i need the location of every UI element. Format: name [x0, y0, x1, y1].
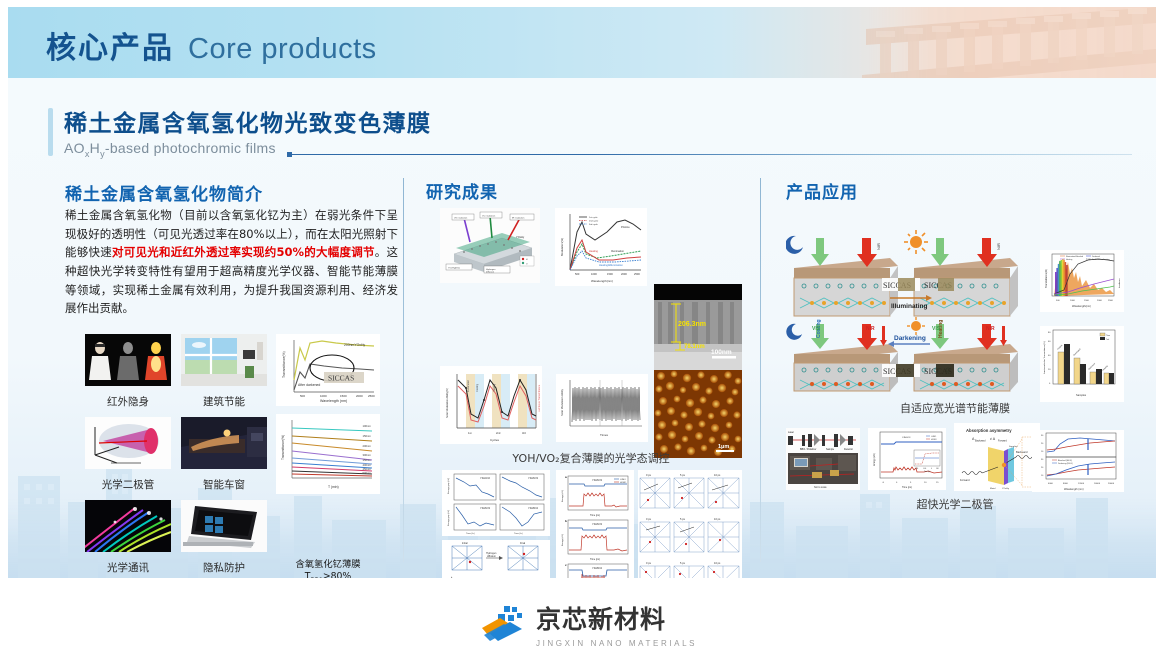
section-accent-bar [48, 108, 53, 156]
svg-text:Vis irradiation: Vis irradiation [482, 214, 496, 217]
svg-text:Time (fs): Time (fs) [924, 471, 931, 473]
divider-middle-right [760, 178, 761, 562]
svg-text:YOxHy: YOxHy [516, 235, 525, 239]
svg-text:0: 0 [931, 468, 932, 470]
thumb-cell-5[interactable]: 隐私防护 [181, 500, 267, 575]
svg-text:500nm: 500nm [362, 471, 371, 475]
svg-text:100: 100 [936, 468, 939, 470]
svg-text:Absorption asymmetry: Absorption asymmetry [966, 428, 1012, 433]
classical-columns-watermark [856, 7, 1156, 78]
modulation-spectrum-chart: PristineIlluminationHeatingHeating&Illum… [555, 208, 647, 286]
slide-body: 稀土金属含氧氢化物光致变色薄膜 AOxHy-based photochromic… [8, 78, 1156, 578]
svg-text:Solar Modulation Ability(%): Solar Modulation Ability(%) [446, 388, 449, 418]
svg-text:Heating: Heating [589, 249, 598, 253]
svg-text:Wavelength (nm): Wavelength (nm) [1064, 487, 1084, 491]
svg-text:Time (fs): Time (fs) [466, 533, 475, 535]
svg-text:HOMO: HOMO [620, 482, 627, 484]
svg-text:5 ps: 5 ps [680, 561, 686, 565]
svg-text:Wavelength (nm): Wavelength (nm) [320, 399, 347, 403]
svg-text:Hydrogen: Hydrogen [486, 268, 496, 271]
logo-text-cn: 京芯新材料 [536, 600, 697, 636]
svg-text:Initial: Initial [462, 542, 468, 545]
spec-line-1: 含氧氢化钇薄膜 [276, 559, 380, 571]
svg-text:3rd cycle: 3rd cycle [589, 223, 599, 226]
svg-text:3rd: 3rd [522, 431, 526, 435]
svg-text:-200: -200 [915, 468, 918, 470]
svg-text:Energy (eV): Energy (eV) [873, 453, 876, 466]
pump-probe-setup-photo: LaserBBO / PolarizerSampleDetector Not t… [786, 428, 860, 490]
hydrogen-diffusion-schematic: HydrogendiffusionInitialFinal 1.24 eV0.2… [442, 540, 550, 578]
thumb-cell-3[interactable]: 智能车窗 [181, 417, 267, 492]
header-title-en: Core products [188, 33, 377, 66]
afm-surface-image: 1μm [654, 370, 742, 458]
svg-text:1500: 1500 [340, 394, 347, 398]
svg-text:Darkened: Darkened [1092, 256, 1100, 258]
svg-text:2nd: 2nd [496, 431, 501, 435]
jingxin-logo-icon [478, 604, 526, 644]
svg-text:Forward: Forward [960, 478, 970, 482]
svg-text:diffusion: diffusion [486, 272, 495, 274]
svg-text:Sample: Sample [826, 448, 835, 451]
svg-text:150nm: 150nm [362, 434, 371, 438]
svg-text:2000: 2000 [356, 394, 363, 398]
energy-gap-md-panels: Y4H4O2Y4H6O3Y4H6O3Y4H8O4 Time (fs)Time (… [442, 470, 550, 536]
svg-text:Energy (eV): Energy (eV) [561, 534, 564, 546]
transmittance-spectrum-chart: SICCAS After darkened 200nmYOxHy Wavelen… [276, 334, 380, 406]
svg-text:Detector: Detector [844, 448, 853, 451]
svg-text:Energy gap (eV): Energy gap (eV) [447, 510, 450, 526]
svg-text:BBO / Polarizer: BBO / Polarizer [800, 448, 817, 451]
thumb-label-0: 红外隐身 [85, 394, 171, 409]
svg-text:1000: 1000 [591, 272, 597, 276]
svg-text:Y4H4O2: Y4H4O2 [480, 476, 491, 480]
thumb-label-5: 隐私防护 [181, 560, 267, 575]
application-thumb-grid: 红外隐身 建筑节能 [85, 334, 267, 575]
svg-text:Metal: Metal [990, 487, 996, 490]
svg-text:78.1nm: 78.1nm [684, 344, 705, 350]
svg-text:500: 500 [300, 394, 305, 398]
svg-text:NIR: NIR [866, 326, 875, 332]
section-title-en-tail: -based photochromic films [105, 140, 276, 156]
svg-text:UV irradiation: UV irradiation [454, 216, 468, 219]
adaptive-film-mechanism-schematic: NIR NIR SIC [786, 226, 1036, 396]
svg-text:5 ps: 5 ps [680, 517, 686, 521]
thermal-imaging-photo [85, 334, 171, 386]
svg-text:IR irradiation: IR irradiation [512, 216, 525, 219]
svg-text:Heating: Heating [493, 383, 496, 392]
fiber-optics-photo [85, 500, 171, 552]
svg-text:Cooling: Cooling [476, 383, 479, 392]
svg-text:1st cycle: 1st cycle [589, 216, 598, 219]
svg-text:Backward: Backward [975, 440, 986, 443]
thickness-series-transmittance-chart: 100nm150nm200nm 300nm350nm400nm 450nm500… [276, 414, 380, 494]
section-title-en: AOxHy-based photochromic films [64, 140, 276, 159]
svg-text:20000: 20000 [1108, 483, 1115, 485]
svg-text:YOxHy: YOxHy [1002, 488, 1010, 490]
section-title-en-a: AO [64, 140, 85, 156]
svg-text:0 ps: 0 ps [646, 517, 652, 521]
svg-text:NIR: NIR [986, 326, 995, 332]
svg-text:200nmYOxHy: 200nmYOxHy [344, 343, 365, 347]
intro-paragraph: 稀土金属含氧氢化物（目前以含氧氢化钇为主）在弱光条件下呈现极好的透明性（可见光透… [65, 206, 398, 318]
svg-text:8000: 8000 [1063, 483, 1069, 485]
svg-text:Modulation(%): Modulation(%) [560, 238, 564, 256]
svg-text:Samples: Samples [1076, 393, 1087, 397]
thumb-cell-2[interactable]: 光学二极管 [85, 417, 171, 492]
thumb-label-2: 光学二极管 [85, 477, 171, 492]
svg-text:Transmittance(%): Transmittance(%) [1045, 269, 1048, 288]
svg-text:Forward: Forward [998, 440, 1007, 443]
svg-text:Wavelength(nm): Wavelength(nm) [591, 279, 613, 283]
svg-text:2000: 2000 [621, 272, 627, 276]
svg-text:Tlum: Tlum [1106, 335, 1110, 337]
svg-text:2500: 2500 [1108, 300, 1114, 302]
right-caption-2: 超快光学二极管 [786, 496, 1124, 512]
svg-text:Heating&Illumination: Heating&Illumination [599, 263, 623, 267]
solar-spectrum-transmittance-chart: Illumination-BleachedDarkenedHeatingDark… [1040, 250, 1124, 312]
svg-text:Energy gap (eV): Energy gap (eV) [447, 478, 450, 494]
right-column-heading: 产品应用 [786, 178, 858, 203]
intro-highlight: 对可见光和近红外透过率实现约50%的大幅度调节 [112, 245, 375, 259]
svg-text:100nm: 100nm [362, 424, 371, 428]
section-title-en-mid: H [90, 140, 100, 156]
svg-text:NIR: NIR [996, 243, 1001, 250]
header-title-cn: 核心产品 [46, 23, 174, 67]
svg-text:4000: 4000 [1048, 483, 1054, 485]
svg-text:Y4H8O4: Y4H8O4 [592, 566, 603, 570]
svg-text:16000: 16000 [1094, 483, 1101, 485]
svg-text:Sapphire: Sapphire [1009, 445, 1019, 448]
svg-text:100nm: 100nm [711, 349, 732, 356]
svg-text:1st: 1st [468, 431, 472, 435]
svg-text:After darkened: After darkened [298, 383, 320, 387]
svg-text:VIS: VIS [932, 326, 941, 332]
sem-cross-section-image: 206.3nm 78.1nm 100nm [654, 284, 742, 370]
svg-text:Not to scale: Not to scale [814, 486, 827, 489]
svg-text:Solar Modulation Ability: Solar Modulation Ability [560, 388, 564, 416]
svg-text:Darkening (300 K): Darkening (300 K) [1058, 463, 1073, 465]
thumb-cell-0[interactable]: 红外隐身 [85, 334, 171, 409]
film-structure-schematic: UV irradiationVis irradiationIR irradiat… [440, 208, 540, 283]
svg-text:10 ps: 10 ps [714, 517, 721, 521]
svg-text:Y4H8O4: Y4H8O4 [528, 506, 539, 510]
svg-text:Transmittance(%): Transmittance(%) [281, 435, 285, 460]
svg-text:≠ A: ≠ A [990, 437, 996, 441]
divider-left-middle [403, 178, 404, 562]
thumb-label-3: 智能车窗 [181, 477, 267, 492]
svg-text:2500: 2500 [368, 394, 375, 398]
wavelength-asymmetry-chart: Bleached (300 K)Darkening (300 K) 400080… [1032, 430, 1124, 492]
transient-transmission-chart: Y4H6O3 LUMOHOMO -200-1000100Time (fs) -5… [868, 428, 946, 490]
svg-text:206.3nm: 206.3nm [678, 321, 706, 328]
cycling-modulation-chart: IlluminationCoolingHeating 1st2nd3rd Cyc… [440, 366, 542, 444]
luminous-modulation-bar-chart: Pristine Illuminated Darkened Heating Tl… [1040, 326, 1124, 402]
svg-text:YOxHy(film): YOxHy(film) [448, 267, 460, 269]
laptop-privacy-photo [181, 500, 267, 552]
svg-text:1000: 1000 [1070, 300, 1076, 302]
svg-text:Heating: Heating [1066, 258, 1072, 261]
svg-text:Y4H6O3: Y4H6O3 [902, 437, 911, 439]
svg-text:350nm: 350nm [362, 458, 371, 462]
svg-text:5 ps: 5 ps [680, 473, 686, 477]
svg-text:NIR: NIR [876, 243, 881, 250]
svg-text:Final: Final [520, 542, 526, 545]
svg-text:Y4H6O3: Y4H6O3 [592, 478, 603, 482]
long-cycling-stability-chart: Times Solar Modulation Ability [556, 374, 648, 442]
film-spec-block: 含氧氢化钇薄膜 T550>80% ΔT>50% 膜厚～200nm 面电阻R=10… [276, 559, 380, 578]
svg-text:Wavelength(nm): Wavelength(nm) [1072, 304, 1091, 308]
svg-text:SICCAS: SICCAS [328, 374, 354, 383]
slide-header: 核心产品 Core products [8, 7, 1156, 78]
svg-text:Time (fs): Time (fs) [514, 533, 523, 535]
svg-text:0 ps: 0 ps [646, 561, 652, 565]
logo-text-en: JINGXIN NANO MATERIALS [536, 639, 697, 648]
header-title-group: 核心产品 Core products [46, 23, 377, 67]
slide-root: 核心产品 Core products [0, 0, 1164, 663]
thumb-label-1: 建筑节能 [181, 394, 267, 409]
right-caption-1: 自适应宽光谱节能薄膜 [786, 400, 1124, 416]
svg-text:Transmittance(%): Transmittance(%) [282, 351, 286, 378]
middle-caption-1: YOH/VO₂复合薄膜的光学态调控 [440, 450, 742, 466]
optical-diode-diagram [85, 417, 171, 469]
svg-text:Darkened and heating: Darkened and heating [1092, 258, 1110, 261]
svg-text:Pristine: Pristine [621, 225, 630, 229]
svg-text:Illuminating: Illuminating [891, 303, 928, 310]
svg-text:Illumination-Bleached: Illumination-Bleached [1066, 255, 1083, 258]
car-window-photo [181, 417, 267, 469]
svg-text:-100: -100 [923, 468, 926, 470]
thumb-cell-4[interactable]: 光学通讯 [85, 500, 171, 575]
svg-text:10 ps: 10 ps [714, 561, 721, 565]
svg-text:Irradiance: Irradiance [1118, 277, 1121, 288]
svg-text:Luminous/solar Transmittance(%: Luminous/solar Transmittance(%) [1043, 341, 1046, 374]
absorption-asymmetry-schematic: Absorption asymmetry A Backward ≠ A Forw… [954, 423, 1040, 491]
svg-text:Y4H6O3: Y4H6O3 [528, 476, 539, 480]
section-rule [292, 154, 1132, 155]
svg-text:500: 500 [575, 272, 580, 276]
svg-text:Time (ps): Time (ps) [902, 486, 912, 489]
md-energy-time-panels: Y4H6O3Y4H6O3Y4H8O4 abc LUMOHOMO Time (ps… [556, 470, 634, 578]
svg-text:10 ps: 10 ps [714, 473, 721, 477]
svg-text:2000: 2000 [1097, 300, 1103, 302]
svg-text:Luminous Transmittance: Luminous Transmittance [538, 384, 541, 412]
thumb-label-4: 光学通讯 [85, 560, 171, 575]
svg-text:Y4H6O3: Y4H6O3 [592, 522, 603, 526]
svg-text:VIS: VIS [812, 326, 821, 332]
logo-text-group: 京芯新材料 JINGXIN NANO MATERIALS [536, 600, 697, 648]
svg-text:200nm: 200nm [362, 444, 371, 448]
left-column-heading: 稀土金属含氧氢化物简介 [65, 180, 263, 205]
svg-text:Time (ps): Time (ps) [590, 514, 600, 517]
svg-text:Y4H6O3: Y4H6O3 [480, 506, 491, 510]
svg-text:T (min): T (min) [328, 485, 339, 489]
svg-text:Darkening: Darkening [894, 335, 926, 342]
svg-text:0 ps: 0 ps [646, 473, 652, 477]
svg-text:12000: 12000 [1078, 483, 1085, 485]
svg-text:Cycles: Cycles [490, 438, 500, 442]
svg-text:Bleached (300 K): Bleached (300 K) [1058, 460, 1072, 462]
svg-text:Energy (eV): Energy (eV) [561, 490, 564, 502]
svg-text:Illumination: Illumination [611, 249, 625, 253]
crystal-snapshot-grid: 0 ps5 ps10 ps 0 ps5 ps10 ps 0 ps5 ps10 p… [638, 470, 742, 578]
section-title-cn: 稀土金属含氧氢化物光致变色薄膜 [64, 104, 432, 138]
svg-text:Times: Times [600, 433, 609, 437]
company-logo: 京芯新材料 JINGXIN NANO MATERIALS [478, 600, 697, 648]
svg-text:HOMO: HOMO [931, 439, 937, 441]
svg-text:Illumination: Illumination [467, 379, 470, 392]
svg-text:LUMO: LUMO [931, 436, 937, 438]
spec-line-2: T550>80% [276, 571, 380, 578]
svg-text:Time (ps): Time (ps) [590, 558, 600, 561]
svg-text:Laser: Laser [788, 431, 794, 434]
svg-text:1000: 1000 [320, 394, 327, 398]
thumb-cell-1[interactable]: 建筑节能 [181, 334, 267, 409]
svg-text:2500: 2500 [634, 272, 640, 276]
svg-text:1500: 1500 [607, 272, 613, 276]
middle-column-heading: 研究成果 [426, 178, 498, 203]
smart-window-photo [181, 334, 267, 386]
svg-text:diffusion: diffusion [487, 555, 497, 558]
svg-text:LUMO: LUMO [620, 479, 626, 481]
svg-text:b: b [565, 519, 567, 523]
svg-text:2nd cycle: 2nd cycle [589, 221, 599, 223]
svg-text:300nm: 300nm [362, 453, 371, 457]
svg-text:1500: 1500 [1084, 300, 1090, 302]
spec-line-2-b: >80% [323, 571, 351, 578]
